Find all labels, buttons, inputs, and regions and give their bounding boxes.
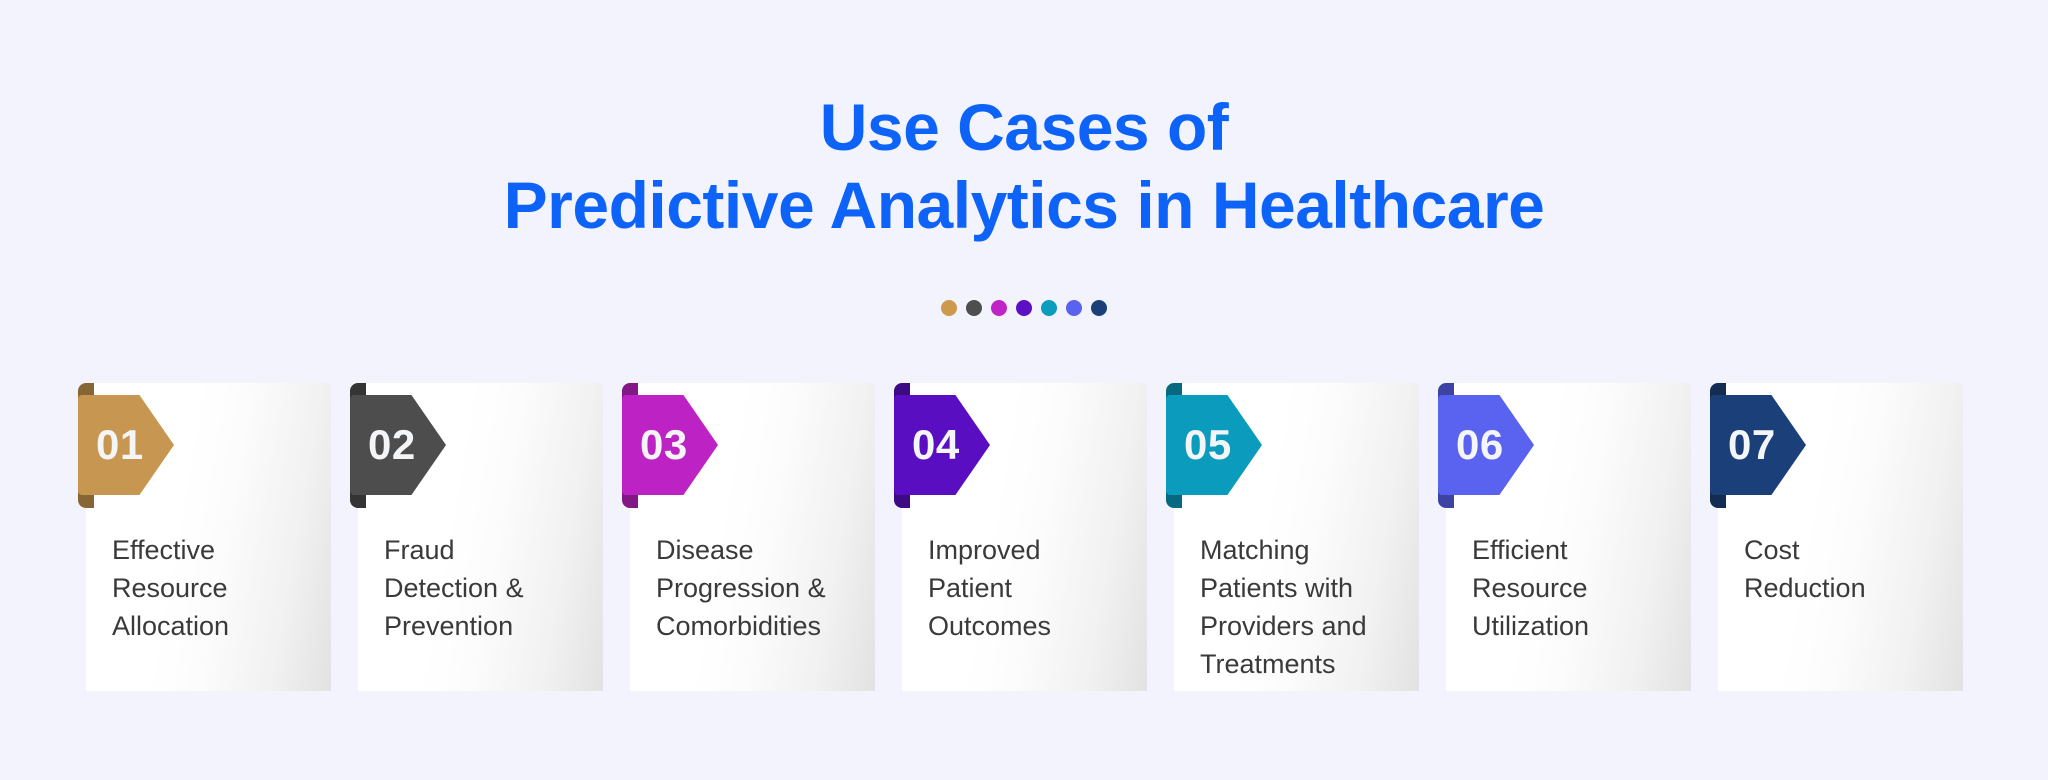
use-case-card-04[interactable]: 04 Improved Patient Outcomes bbox=[902, 383, 1147, 691]
infographic-slide: Use Cases of Predictive Analytics in Hea… bbox=[0, 0, 2048, 780]
use-case-label-04: Improved Patient Outcomes bbox=[928, 531, 1118, 645]
use-case-label-06: Efficient Resource Utilization bbox=[1472, 531, 1662, 645]
use-case-label-02: Fraud Detection & Prevention bbox=[384, 531, 574, 645]
ribbon-number-03: 03 bbox=[640, 424, 688, 466]
use-case-card-02[interactable]: 02 Fraud Detection & Prevention bbox=[358, 383, 603, 691]
ribbon-badge-02: 02 bbox=[350, 395, 446, 495]
ribbon-number-04: 04 bbox=[912, 424, 960, 466]
use-case-card-05[interactable]: 05 Matching Patients with Providers and … bbox=[1174, 383, 1419, 691]
color-dot-row bbox=[0, 300, 2048, 316]
use-case-card-03[interactable]: 03 Disease Progression & Comorbidities bbox=[630, 383, 875, 691]
ribbon-number-07: 07 bbox=[1728, 424, 1776, 466]
ribbon-badge-06: 06 bbox=[1438, 395, 1534, 495]
ribbon-badge-04: 04 bbox=[894, 395, 990, 495]
ribbon-number-01: 01 bbox=[96, 424, 144, 466]
dot-01 bbox=[941, 300, 957, 316]
use-case-label-01: Effective Resource Allocation bbox=[112, 531, 302, 645]
ribbon-number-06: 06 bbox=[1456, 424, 1504, 466]
dot-06 bbox=[1066, 300, 1082, 316]
dot-03 bbox=[991, 300, 1007, 316]
ribbon-badge-05: 05 bbox=[1166, 395, 1262, 495]
dot-04 bbox=[1016, 300, 1032, 316]
page-title: Use Cases of Predictive Analytics in Hea… bbox=[0, 88, 2048, 244]
use-case-card-06[interactable]: 06 Efficient Resource Utilization bbox=[1446, 383, 1691, 691]
use-case-card-row: 01 Effective Resource Allocation 02 Frau… bbox=[86, 383, 1976, 693]
ribbon-badge-03: 03 bbox=[622, 395, 718, 495]
ribbon-badge-07: 07 bbox=[1710, 395, 1806, 495]
use-case-card-07[interactable]: 07 Cost Reduction bbox=[1718, 383, 1963, 691]
use-case-card-01[interactable]: 01 Effective Resource Allocation bbox=[86, 383, 331, 691]
ribbon-badge-01: 01 bbox=[78, 395, 174, 495]
ribbon-number-05: 05 bbox=[1184, 424, 1232, 466]
use-case-label-07: Cost Reduction bbox=[1744, 531, 1934, 607]
dot-07 bbox=[1091, 300, 1107, 316]
use-case-label-03: Disease Progression & Comorbidities bbox=[656, 531, 846, 645]
dot-05 bbox=[1041, 300, 1057, 316]
ribbon-number-02: 02 bbox=[368, 424, 416, 466]
dot-02 bbox=[966, 300, 982, 316]
use-case-label-05: Matching Patients with Providers and Tre… bbox=[1200, 531, 1390, 683]
